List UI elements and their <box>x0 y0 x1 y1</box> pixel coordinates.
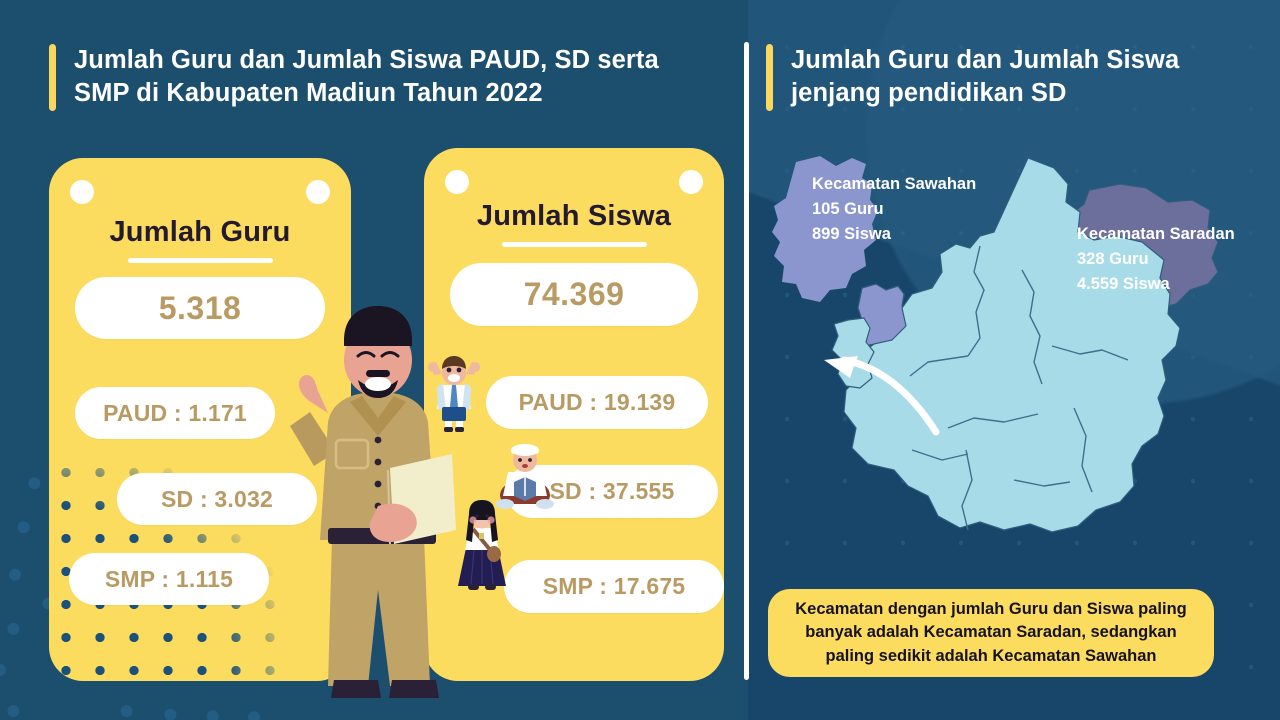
map-label-sawahan-teachers: 105 Guru <box>812 197 976 222</box>
infographic-canvas: Jumlah Guru dan Jumlah Siswa PAUD, SD se… <box>0 0 1280 720</box>
student-girl-illustration <box>452 500 512 596</box>
card-siswa-hole-right <box>679 170 703 194</box>
left-title-accent-bar <box>49 44 56 111</box>
card-guru-hole-right <box>306 180 330 204</box>
card-siswa-paud-value: PAUD : 19.139 <box>486 376 708 429</box>
map-label-saradan: Kecamatan Saradan 328 Guru 4.559 Siswa <box>1077 222 1235 297</box>
left-page-title: Jumlah Guru dan Jumlah Siswa PAUD, SD se… <box>74 44 709 111</box>
card-guru-paud-value: PAUD : 1.171 <box>75 387 275 439</box>
card-guru-heading: Jumlah Guru <box>49 216 351 249</box>
card-siswa-smp-value: SMP : 17.675 <box>504 560 724 613</box>
card-siswa-divider <box>502 242 647 247</box>
right-title-block: Jumlah Guru dan Jumlah Siswa jenjang pen… <box>766 44 1236 111</box>
student-boy-illustration <box>424 355 484 433</box>
map-label-saradan-name: Kecamatan Saradan <box>1077 222 1235 247</box>
card-guru-hole-left <box>70 180 94 204</box>
map-label-saradan-students: 4.559 Siswa <box>1077 272 1235 297</box>
vertical-divider <box>744 42 749 680</box>
card-siswa-total-value: 74.369 <box>450 263 698 326</box>
map-region-kare <box>832 318 874 388</box>
left-title-block: Jumlah Guru dan Jumlah Siswa PAUD, SD se… <box>49 44 709 111</box>
map-label-sawahan-students: 899 Siswa <box>812 222 976 247</box>
card-guru-divider <box>128 258 273 263</box>
card-guru-smp-value: SMP : 1.115 <box>69 553 269 605</box>
map-label-saradan-teachers: 328 Guru <box>1077 247 1235 272</box>
card-siswa-heading: Jumlah Siswa <box>424 200 724 233</box>
card-siswa-hole-left <box>445 170 469 194</box>
map-caption-box: Kecamatan dengan jumlah Guru dan Siswa p… <box>768 589 1214 677</box>
map-label-sawahan-name: Kecamatan Sawahan <box>812 172 976 197</box>
map-label-sawahan: Kecamatan Sawahan 105 Guru 899 Siswa <box>812 172 976 247</box>
right-page-title: Jumlah Guru dan Jumlah Siswa jenjang pen… <box>791 44 1236 111</box>
right-title-accent-bar <box>766 44 773 111</box>
